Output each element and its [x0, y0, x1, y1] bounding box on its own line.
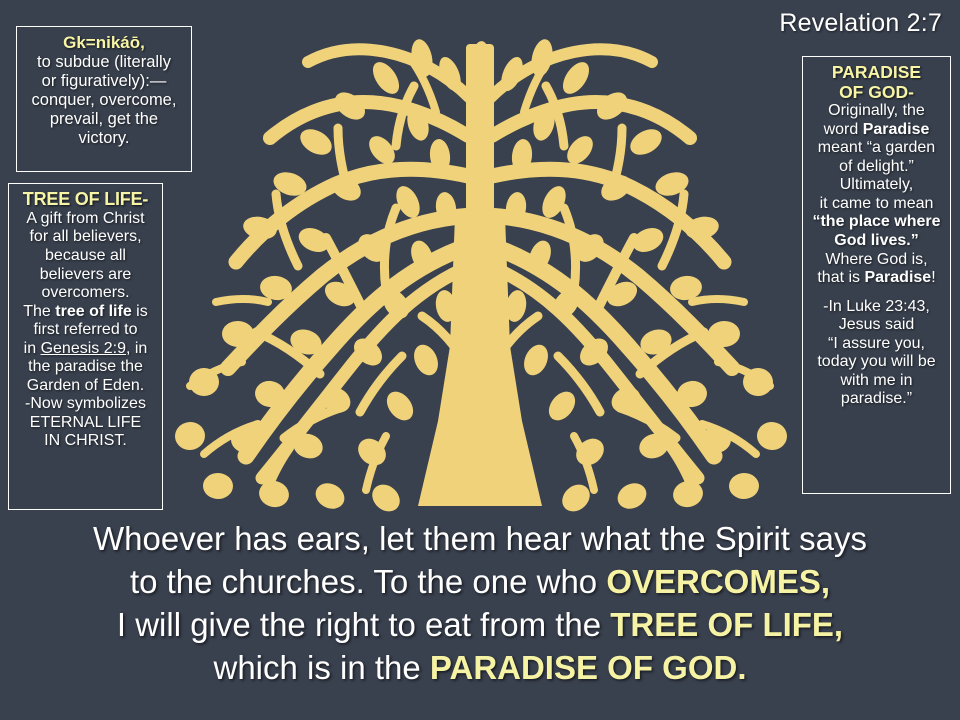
callout-paradise-of-god: PARADISE OF GOD- Originally, the word Pa…	[802, 56, 951, 494]
paradise-line-10-bold: Paradise	[864, 269, 931, 286]
tree-of-life-line-6-pre: The	[23, 303, 55, 320]
nikao-line-5: victory.	[24, 129, 184, 148]
verse-line-1: Whoever has ears, let them hear what the…	[0, 518, 960, 561]
paradise-line-2-bold: Paradise	[863, 121, 930, 138]
nikao-line-4: prevail, get the	[24, 110, 184, 129]
paradise-line-2-pre: word	[824, 121, 863, 138]
verse-highlight-tree-of-life: TREE OF LIFE,	[610, 606, 843, 643]
verse-line-4: which is in the PARADISE OF GOD.	[0, 647, 960, 690]
tree-of-life-line-11: -Now symbolizes	[14, 395, 157, 414]
tree-of-life-line-5: overcomers.	[14, 284, 157, 303]
tree-of-life-line-12: ETERNAL LIFE	[14, 414, 157, 433]
nikao-line-2: or figuratively):—	[24, 72, 184, 91]
paradise-title-line-2: OF GOD-	[807, 83, 946, 103]
tree-of-life-line-8-pre: in	[24, 340, 41, 357]
tree-of-life-illustration	[150, 16, 810, 526]
tree-of-life-line-9: the paradise the	[14, 358, 157, 377]
nikao-line-1: to subdue (literally	[24, 53, 184, 72]
callout-tree-of-life: TREE OF LIFE- A gift from Christ for all…	[8, 183, 163, 510]
verse-line-2-pre: to the churches. To the one who	[130, 563, 606, 600]
paradise-line-10-pre: that is	[817, 269, 864, 286]
tree-of-life-line-3: because all	[14, 247, 157, 266]
paradise-line-10: that is Paradise!	[807, 269, 946, 288]
verse-line-3-pre: I will give the right to eat from the	[117, 606, 610, 643]
tree-of-life-line-1: A gift from Christ	[14, 210, 157, 229]
tree-graphic	[174, 37, 789, 517]
paradise-line-9: Where God is,	[807, 251, 946, 270]
nikao-title: Gk=nikáō,	[24, 33, 184, 53]
paradise-line-2: word Paradise	[807, 121, 946, 140]
verse-line-3: I will give the right to eat from the TR…	[0, 604, 960, 647]
verse-highlight-overcomes: OVERCOMES,	[606, 563, 830, 600]
tree-of-life-line-6-bold: tree of life	[55, 303, 131, 320]
tree-of-life-line-8: in Genesis 2:9, in	[14, 340, 157, 359]
verse-line-4-pre: which is in the	[213, 649, 429, 686]
paradise-line-12: Jesus said	[807, 316, 946, 335]
paradise-line-4: of delight.”	[807, 158, 946, 177]
tree-of-life-line-10: Garden of Eden.	[14, 377, 157, 396]
tree-of-life-line-6-post: is	[132, 303, 148, 320]
paradise-spacer	[807, 288, 946, 298]
tree-of-life-line-7: first referred to	[14, 321, 157, 340]
paradise-line-16: paradise.”	[807, 390, 946, 409]
paradise-line-5: Ultimately,	[807, 176, 946, 195]
verse-text: Whoever has ears, let them hear what the…	[0, 518, 960, 690]
tree-of-life-title: TREE OF LIFE-	[14, 189, 157, 210]
tree-of-life-line-2: for all believers,	[14, 228, 157, 247]
paradise-line-11: -In Luke 23:43,	[807, 298, 946, 317]
paradise-line-14: today you will be	[807, 353, 946, 372]
slide-canvas: Revelation 2:7 Gk=nikáō, to subdue (lite…	[0, 0, 960, 720]
tree-of-life-line-6: The tree of life is	[14, 303, 157, 322]
genesis-reference-link[interactable]: Genesis 2:9	[41, 340, 126, 357]
paradise-line-3: meant “a garden	[807, 139, 946, 158]
nikao-line-3: conquer, overcome,	[24, 91, 184, 110]
paradise-line-7: “the place where	[807, 213, 946, 232]
scripture-reference: Revelation 2:7	[779, 10, 942, 38]
paradise-line-8: God lives.”	[807, 232, 946, 251]
verse-highlight-paradise-of-god: PARADISE OF GOD.	[430, 649, 747, 686]
tree-of-life-line-4: believers are	[14, 266, 157, 285]
paradise-line-1: Originally, the	[807, 102, 946, 121]
verse-line-2: to the churches. To the one who OVERCOME…	[0, 561, 960, 604]
paradise-line-10-post: !	[931, 269, 935, 286]
callout-nikao-definition: Gk=nikáō, to subdue (literally or figura…	[16, 26, 192, 172]
paradise-line-13: “I assure you,	[807, 335, 946, 354]
tree-of-life-line-13: IN CHRIST.	[14, 432, 157, 451]
tree-of-life-line-8-post: , in	[126, 340, 147, 357]
paradise-line-6: it came to mean	[807, 195, 946, 214]
paradise-title-line-1: PARADISE	[807, 63, 946, 83]
paradise-line-15: with me in	[807, 372, 946, 391]
